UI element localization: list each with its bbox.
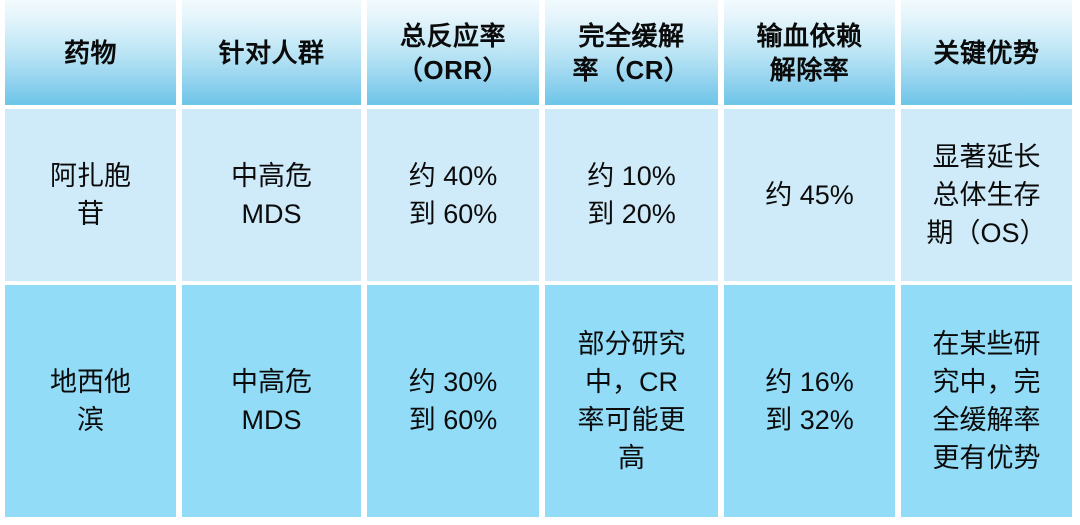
cell-cr: 约 10% 到 20% — [545, 109, 718, 281]
cell-population: 中高危 MDS — [182, 285, 361, 517]
cell-drug: 地西他 滨 — [5, 285, 176, 517]
comparison-table-container: 药物 针对人群 总反应率 （ORR） 完全缓解 率（CR） 输血依赖 解除率 关… — [5, 0, 1072, 517]
drug-comparison-table: 药物 针对人群 总反应率 （ORR） 完全缓解 率（CR） 输血依赖 解除率 关… — [5, 0, 1072, 517]
column-header-cr: 完全缓解 率（CR） — [545, 0, 718, 105]
cell-population: 中高危 MDS — [182, 109, 361, 281]
cell-key-advantage: 显著延长 总体生存 期（OS） — [901, 109, 1072, 281]
table-row: 地西他 滨 中高危 MDS 约 30% 到 60% 部分研究 中，CR 率可能更… — [5, 285, 1072, 517]
table-header-row: 药物 针对人群 总反应率 （ORR） 完全缓解 率（CR） 输血依赖 解除率 关… — [5, 0, 1072, 105]
table-row: 阿扎胞 苷 中高危 MDS 约 40% 到 60% 约 10% 到 20% 约 … — [5, 109, 1072, 281]
cell-orr: 约 30% 到 60% — [367, 285, 539, 517]
column-header-key-advantage: 关键优势 — [901, 0, 1072, 105]
cell-cr: 部分研究 中，CR 率可能更 高 — [545, 285, 718, 517]
column-header-transfusion-independence: 输血依赖 解除率 — [724, 0, 895, 105]
cell-transfusion-independence: 约 16% 到 32% — [724, 285, 895, 517]
cell-drug: 阿扎胞 苷 — [5, 109, 176, 281]
cell-orr: 约 40% 到 60% — [367, 109, 539, 281]
cell-key-advantage: 在某些研 究中，完 全缓解率 更有优势 — [901, 285, 1072, 517]
column-header-drug: 药物 — [5, 0, 176, 105]
column-header-orr: 总反应率 （ORR） — [367, 0, 539, 105]
cell-transfusion-independence: 约 45% — [724, 109, 895, 281]
column-header-population: 针对人群 — [182, 0, 361, 105]
